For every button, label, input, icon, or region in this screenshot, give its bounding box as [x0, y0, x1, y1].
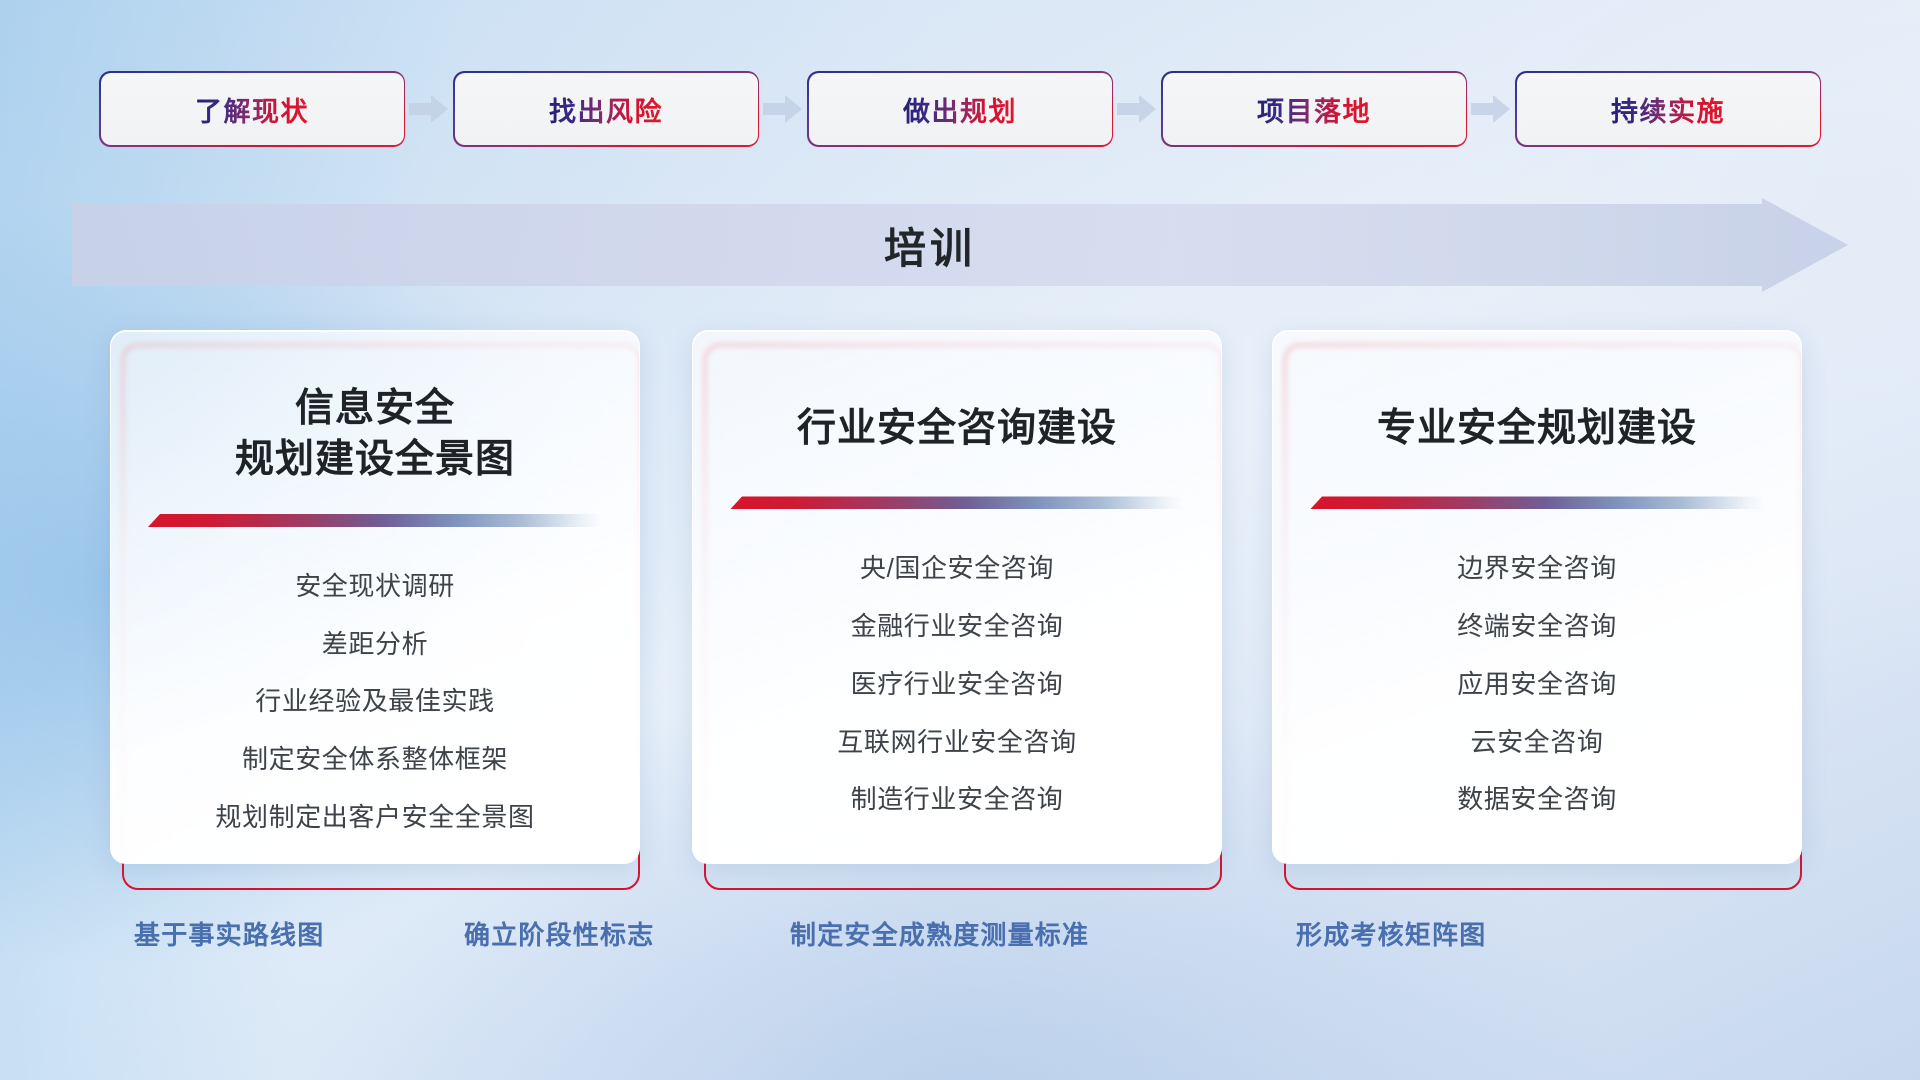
bottom-label-4: 形成考核矩阵图 [1296, 915, 1486, 952]
card-list-item: 边界安全咨询 [1457, 543, 1617, 594]
step-box-1[interactable]: 了解现状 [101, 73, 404, 145]
step-arrow-icon-4 [1466, 68, 1517, 150]
card-list-item: 云安全咨询 [1470, 717, 1603, 768]
step-box-3[interactable]: 做出规划 [809, 73, 1112, 145]
training-banner: 培训 [72, 198, 1848, 292]
card-title-2: 行业安全咨询建设 [693, 403, 1221, 454]
card-list-item: 终端安全咨询 [1457, 601, 1617, 652]
card-title-3: 专业安全规划建设 [1273, 403, 1801, 454]
card-slot-1: 信息安全 规划建设全景图 安全现状调研 差距分析 行业经验及最佳实践 制定安全体… [110, 330, 640, 890]
card-list-item: 金融行业安全咨询 [851, 601, 1064, 652]
bottom-label-row: 基于事实路线图 确立阶段性标志 制定安全成熟度测量标准 形成考核矩阵图 [0, 915, 1920, 965]
card-list-item: 数据安全咨询 [1457, 774, 1617, 825]
step-arrow-icon-2 [758, 68, 809, 150]
step-arrow-icon-3 [1112, 68, 1163, 150]
card-divider-3 [1310, 496, 1764, 509]
card-slot-2: 行业安全咨询建设 央/国企安全咨询 金融行业安全咨询 医疗行业安全咨询 互联网行… [692, 330, 1222, 890]
card-list-item: 应用安全咨询 [1457, 659, 1617, 710]
bottom-label-3: 制定安全成熟度测量标准 [790, 915, 1089, 952]
step-label-3: 做出规划 [903, 90, 1017, 129]
card-list-item: 互联网行业安全咨询 [837, 717, 1076, 768]
bottom-label-1: 基于事实路线图 [134, 915, 324, 952]
card-list-item: 医疗行业安全咨询 [851, 659, 1064, 710]
step-wrap-2: 找出风险 [455, 68, 809, 150]
card-divider-1 [148, 514, 602, 527]
step-arrow-icon-1 [404, 68, 455, 150]
card-divider-2 [730, 496, 1184, 509]
step-wrap-3: 做出规划 [809, 68, 1163, 150]
step-box-4[interactable]: 项目落地 [1163, 73, 1466, 145]
bottom-label-2: 确立阶段性标志 [464, 915, 654, 952]
card-title-1: 信息安全 规划建设全景图 [111, 383, 639, 486]
card-list-item: 规划制定出客户安全全景图 [215, 792, 534, 843]
card-list-item: 央/国企安全咨询 [860, 543, 1054, 594]
card-row: 信息安全 规划建设全景图 安全现状调研 差距分析 行业经验及最佳实践 制定安全体… [0, 330, 1920, 890]
step-box-2[interactable]: 找出风险 [455, 73, 758, 145]
step-label-2: 找出风险 [549, 90, 663, 129]
step-label-1: 了解现状 [195, 90, 309, 129]
process-step-row: 了解现状 找出风险 做出规划 项目落地 持续实施 [0, 68, 1920, 150]
card-list-item: 制造行业安全咨询 [851, 774, 1064, 825]
card-list-1: 安全现状调研 差距分析 行业经验及最佳实践 制定安全体系整体框架 规划制定出客户… [111, 561, 639, 842]
step-box-5[interactable]: 持续实施 [1517, 73, 1820, 145]
card-list-item: 制定安全体系整体框架 [242, 734, 508, 785]
card-1[interactable]: 信息安全 规划建设全景图 安全现状调研 差距分析 行业经验及最佳实践 制定安全体… [110, 330, 640, 864]
card-3[interactable]: 专业安全规划建设 边界安全咨询 终端安全咨询 应用安全咨询 云安全咨询 数据安全… [1272, 330, 1802, 864]
card-2[interactable]: 行业安全咨询建设 央/国企安全咨询 金融行业安全咨询 医疗行业安全咨询 互联网行… [692, 330, 1222, 864]
step-wrap-5: 持续实施 [1517, 73, 1820, 145]
banner-label: 培训 [72, 198, 1848, 292]
step-label-4: 项目落地 [1257, 90, 1371, 129]
card-list-2: 央/国企安全咨询 金融行业安全咨询 医疗行业安全咨询 互联网行业安全咨询 制造行… [693, 543, 1221, 824]
step-wrap-4: 项目落地 [1163, 68, 1517, 150]
card-list-3: 边界安全咨询 终端安全咨询 应用安全咨询 云安全咨询 数据安全咨询 [1273, 543, 1801, 824]
card-slot-3: 专业安全规划建设 边界安全咨询 终端安全咨询 应用安全咨询 云安全咨询 数据安全… [1272, 330, 1802, 890]
step-wrap-1: 了解现状 [101, 68, 455, 150]
card-list-item: 行业经验及最佳实践 [255, 676, 494, 727]
card-list-item: 差距分析 [322, 619, 428, 670]
card-list-item: 安全现状调研 [295, 561, 455, 612]
step-label-5: 持续实施 [1611, 90, 1725, 129]
